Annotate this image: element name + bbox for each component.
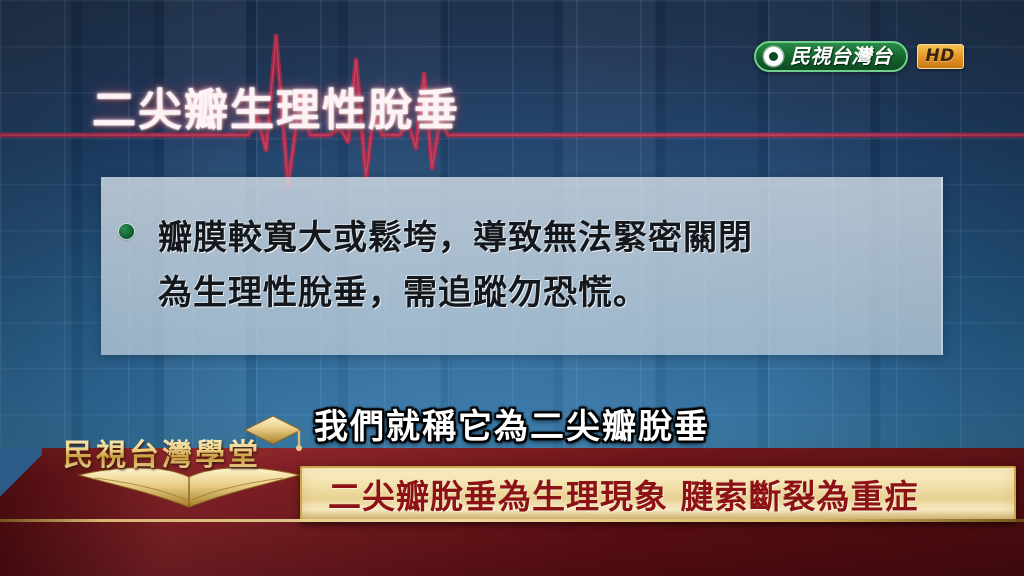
program-badge-label: 民視台灣學堂 <box>63 430 261 474</box>
green-bullet-dot-icon <box>119 224 134 239</box>
content-panel: 瓣膜較寬大或鬆垮，導致無法緊密關閉 為生理性脫垂，需追蹤勿恐慌。 <box>101 177 943 355</box>
bullet-text-block: 瓣膜較寬大或鬆垮，導致無法緊密關閉 為生理性脫垂，需追蹤勿恐慌。 <box>158 211 753 321</box>
ribbon-left-notch <box>0 448 42 500</box>
news-headline-bar: 二尖瓣脫垂為生理現象 腱索斷裂為重症 <box>300 466 1016 522</box>
channel-logo-bug: 民視台灣台 HD <box>754 41 964 72</box>
bullet-line-2: 為生理性脫垂，需追蹤勿恐慌。 <box>158 266 753 321</box>
program-badge: 民視台灣學堂 <box>55 424 323 502</box>
channel-name: 民視台灣台 <box>790 46 893 66</box>
page-title: 二尖瓣生理性脫垂 <box>92 88 460 134</box>
bullet-item: 瓣膜較寬大或鬆垮，導致無法緊密關閉 為生理性脫垂，需追蹤勿恐慌。 <box>119 211 753 321</box>
bullet-line-1: 瓣膜較寬大或鬆垮，導致無法緊密關閉 <box>158 211 753 266</box>
hd-badge: HD <box>917 44 964 70</box>
eye-icon <box>764 47 783 66</box>
news-headline-text: 二尖瓣脫垂為生理現象 腱索斷裂為重症 <box>302 470 919 518</box>
broadcast-screen: 二尖瓣生理性脫垂 瓣膜較寬大或鬆垮，導致無法緊密關閉 為生理性脫垂，需追蹤勿恐慌… <box>0 0 1024 576</box>
ribbon-gold-rule <box>0 519 1024 522</box>
channel-pill: 民視台灣台 <box>754 41 908 72</box>
